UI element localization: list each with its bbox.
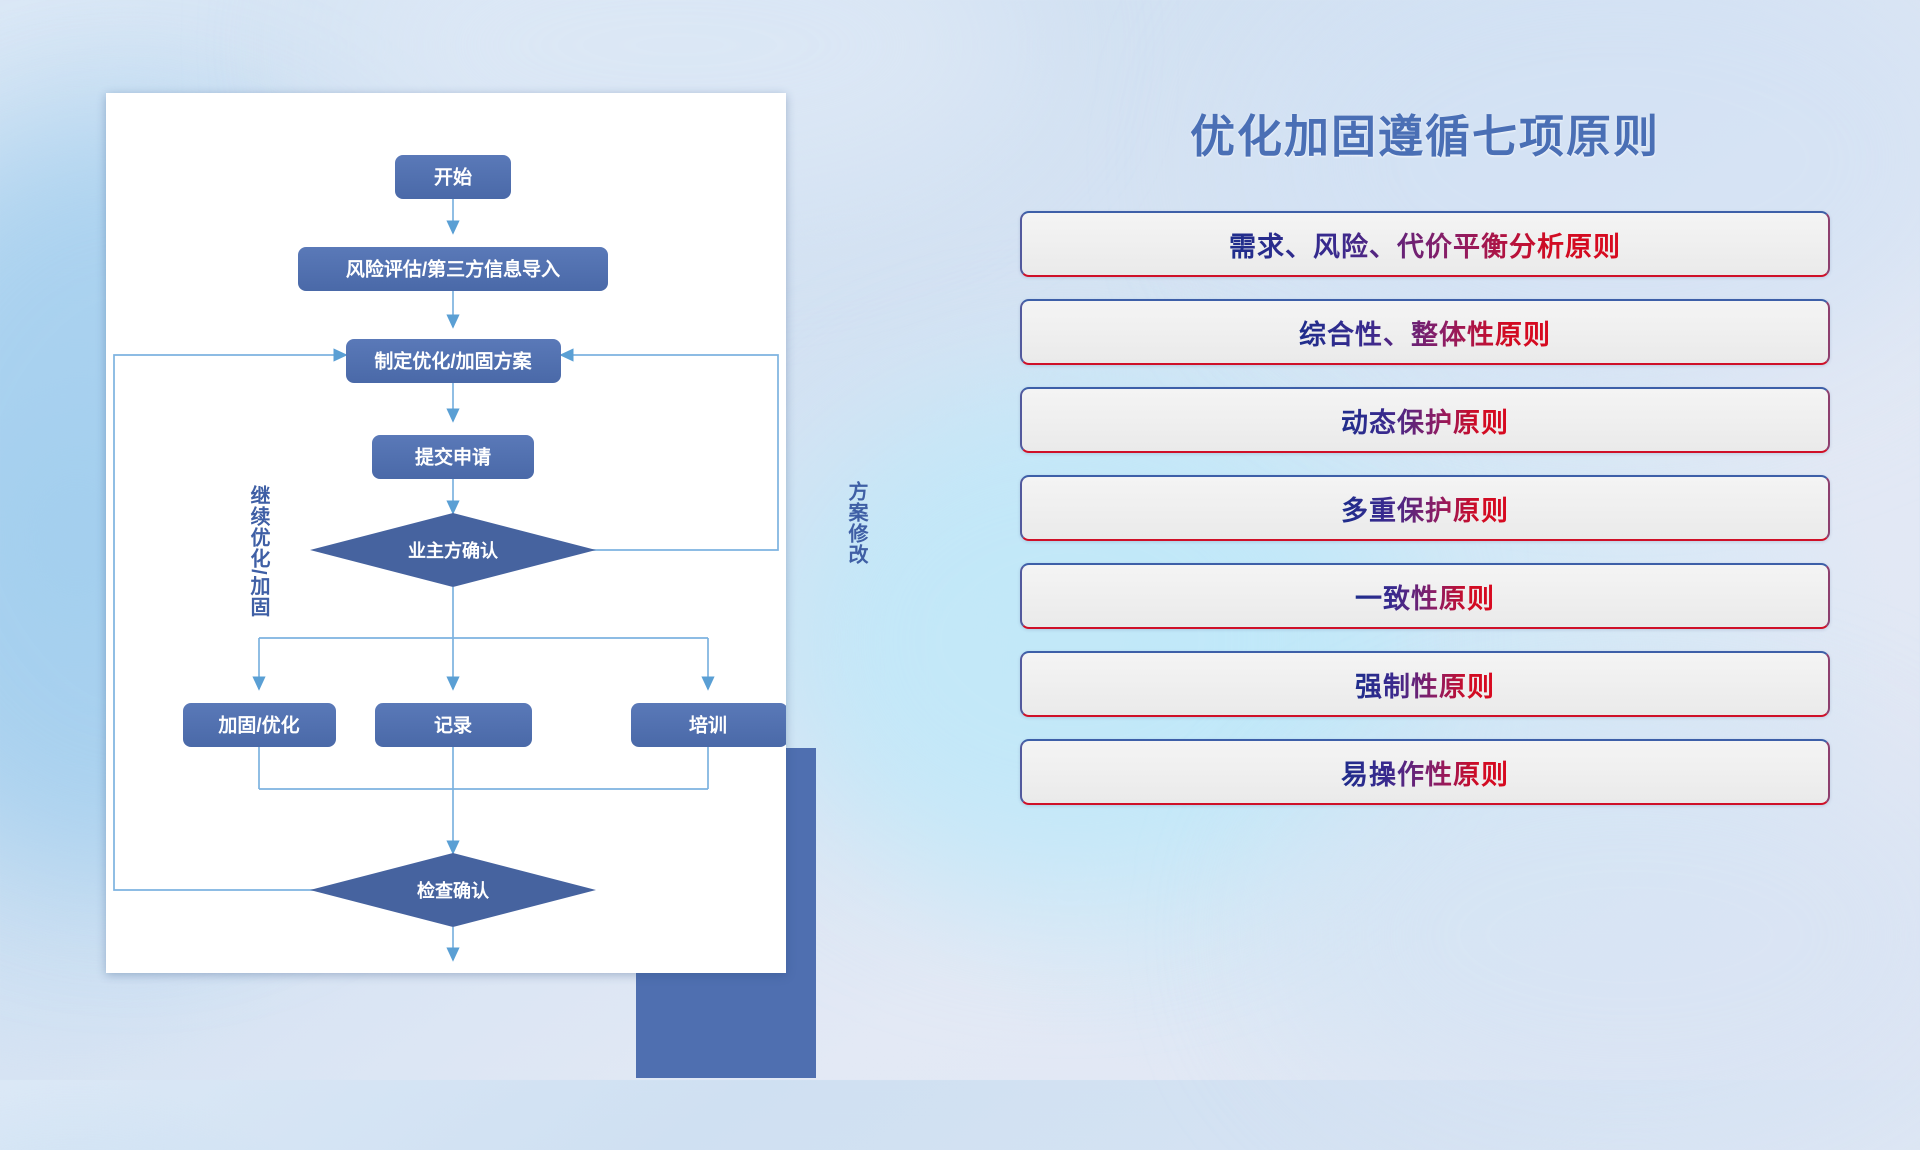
flowchart-panel: 开始 风险评估/第三方信息导入 制定优化/加固方案 提交申请 业主方确认 加固/… (106, 93, 786, 973)
flow-edge-label-right-loop: 方案修改 (846, 481, 866, 565)
principle-label: 一致性原则 (1355, 577, 1495, 616)
principle-card[interactable]: 需求、风险、代价平衡分析原则 (1020, 211, 1830, 277)
flow-node-risk-assessment: 风险评估/第三方信息导入 (346, 258, 560, 281)
flow-node-training: 培训 (689, 714, 727, 737)
principle-label: 多重保护原则 (1341, 489, 1509, 528)
principle-label: 需求、风险、代价平衡分析原则 (1229, 225, 1621, 264)
page-title: 优化加固遵循七项原则 (1020, 100, 1830, 165)
flow-node-check-confirm: 检查确认 (417, 880, 490, 901)
principle-label: 动态保护原则 (1341, 401, 1509, 440)
flow-node-make-plan: 制定优化/加固方案 (374, 350, 532, 373)
principle-card[interactable]: 多重保护原则 (1020, 475, 1830, 541)
principle-card[interactable]: 动态保护原则 (1020, 387, 1830, 453)
flow-node-owner-confirm: 业主方确认 (408, 540, 499, 561)
principle-card[interactable]: 强制性原则 (1020, 651, 1830, 717)
principle-card[interactable]: 易操作性原则 (1020, 739, 1830, 805)
flow-edge-label-left-loop: 继续优化/加固 (248, 485, 268, 618)
flow-node-record: 记录 (434, 715, 472, 737)
flow-node-submit-application: 提交申请 (415, 446, 491, 469)
principles-panel: 优化加固遵循七项原则 需求、风险、代价平衡分析原则 综合性、整体性原则 动态保护… (1020, 100, 1830, 805)
flow-node-reinforce-optimize: 加固/优化 (217, 714, 299, 737)
principle-card[interactable]: 一致性原则 (1020, 563, 1830, 629)
principle-card[interactable]: 综合性、整体性原则 (1020, 299, 1830, 365)
flow-node-start: 开始 (434, 166, 472, 189)
principle-label: 综合性、整体性原则 (1299, 313, 1551, 352)
flowchart-card: 开始 风险评估/第三方信息导入 制定优化/加固方案 提交申请 业主方确认 加固/… (106, 93, 786, 973)
flowchart-svg: 开始 风险评估/第三方信息导入 制定优化/加固方案 提交申请 业主方确认 加固/… (106, 93, 786, 973)
principle-list: 需求、风险、代价平衡分析原则 综合性、整体性原则 动态保护原则 多重保护原则 一… (1020, 211, 1830, 805)
principle-label: 强制性原则 (1355, 665, 1495, 704)
principle-label: 易操作性原则 (1341, 753, 1509, 792)
